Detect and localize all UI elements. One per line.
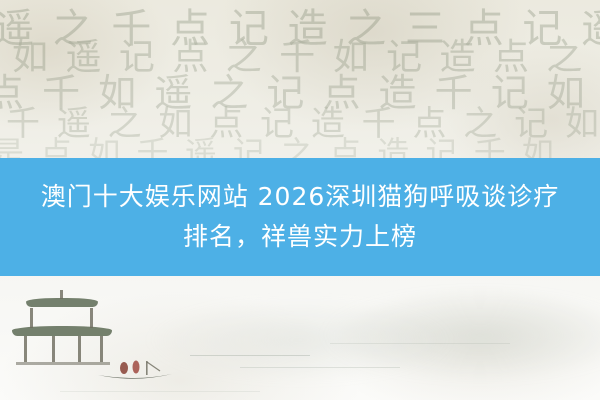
mist-wash bbox=[150, 300, 450, 380]
pavilion-post bbox=[30, 308, 33, 328]
banner-title-line-2: 排名，祥兽实力上榜 bbox=[183, 217, 417, 257]
pavilion-finial bbox=[60, 290, 63, 299]
pavilion-post bbox=[90, 308, 93, 328]
water-ripple bbox=[240, 367, 400, 368]
banner-title-line-1: 澳门十大娱乐网站 2026深圳猫狗呼吸谈诊疗 bbox=[41, 177, 560, 217]
calligraphy-block: 遥 之 千 点 记 造 之 三 点 记 遥 如 遥 记 点 之 千 如 记 造 … bbox=[0, 0, 600, 168]
boat-illustration bbox=[92, 354, 178, 384]
water-ripple bbox=[330, 343, 510, 344]
title-banner: 澳门十大娱乐网站 2026深圳猫狗呼吸谈诊疗 排名，祥兽实力上榜 bbox=[0, 158, 600, 276]
pavilion-post bbox=[52, 336, 55, 362]
pavilion-roof-lower bbox=[12, 326, 112, 336]
water-ripple bbox=[190, 355, 310, 356]
pavilion-roof-upper bbox=[26, 298, 98, 307]
water-ripple bbox=[60, 391, 260, 392]
pavilion-post bbox=[24, 336, 27, 362]
pavilion-post bbox=[78, 336, 81, 362]
image-canvas: 遥 之 千 点 记 造 之 三 点 记 遥 如 遥 记 点 之 千 如 记 造 … bbox=[0, 0, 600, 400]
